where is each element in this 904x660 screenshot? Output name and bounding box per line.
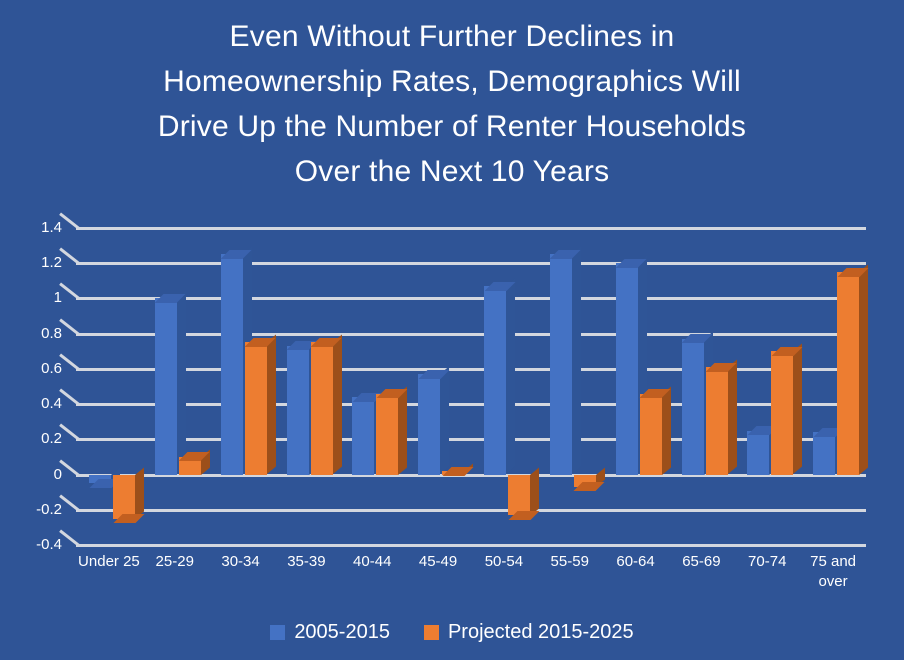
bar-group [274,228,340,545]
y-axis-tick-label: 0.2 [4,431,62,446]
bar-face [245,342,267,474]
bar-face [837,272,859,475]
bar-group [142,228,208,545]
bar[interactable] [508,475,530,516]
x-axis-tick-label: 40-44 [339,552,405,572]
bar[interactable] [747,431,769,475]
bar-face [706,367,728,474]
bar[interactable] [813,432,835,474]
bar-face [484,286,506,474]
bar[interactable] [682,339,704,475]
bar-group [537,228,603,545]
bar[interactable] [771,351,793,474]
y-axis-tick-label: -0.2 [4,502,62,517]
bar-face [113,475,135,519]
bar[interactable] [376,394,398,475]
bar-side [177,291,186,475]
bar[interactable] [418,374,440,474]
y-axis-tick-labels: 1.41.210.80.60.40.20-0.2-0.4 [0,228,62,545]
x-axis-tick-label: 65-69 [669,552,735,572]
bar[interactable] [550,254,572,474]
bar-face [640,394,662,475]
legend-swatch-icon [424,625,439,640]
y-axis-tick-label: 1 [4,290,62,305]
x-axis-tick-label: 30-34 [208,552,274,572]
bar[interactable] [113,475,135,519]
y-axis-tick-label: -0.4 [4,537,62,552]
bar[interactable] [155,298,177,474]
bar-group [339,228,405,545]
bar[interactable] [311,342,333,474]
x-axis-tick-label: Under 25 [76,552,142,572]
bar-side [506,279,515,475]
bar-side [859,264,868,474]
bar[interactable] [484,286,506,474]
bar-face [616,263,638,474]
x-axis-tick-label: 60-64 [603,552,669,572]
bar-face [771,351,793,474]
x-axis-tick-label: 70-74 [734,552,800,572]
legend-item[interactable]: Projected 2015-2025 [424,622,634,642]
bar-face [352,397,374,474]
bar[interactable] [287,346,309,475]
x-axis-tick-label: 25-29 [142,552,208,572]
y-axis-tick-label: 0 [4,467,62,482]
bar-group [76,228,142,545]
bar-group [603,228,669,545]
y-axis-tick-label: 1.2 [4,255,62,270]
bar-group [405,228,471,545]
bar-face [682,339,704,475]
bar-group [208,228,274,545]
bar[interactable] [245,342,267,474]
y-axis-tick-label: 0.4 [4,396,62,411]
bar[interactable] [837,272,859,475]
bar-face [376,394,398,475]
bar-face [221,254,243,474]
y-axis-tick-label: 0.8 [4,326,62,341]
legend-label: 2005-2015 [294,622,390,642]
x-axis-tick-label: 35-39 [274,552,340,572]
bar[interactable] [706,367,728,474]
bar-face [155,298,177,474]
y-axis-tick-label: 0.6 [4,361,62,376]
x-axis-tick-labels: Under 2525-2930-3435-3940-4445-4950-5455… [76,552,866,602]
legend-item[interactable]: 2005-2015 [270,622,390,642]
bar[interactable] [640,394,662,475]
bar-side [440,367,449,475]
chart-container: Even Without Further Declines in Homeown… [0,0,904,660]
bar-group [471,228,537,545]
x-axis-tick-label: 50-54 [471,552,537,572]
x-axis-tick-label: 55-59 [537,552,603,572]
bar-group [734,228,800,545]
bar[interactable] [179,457,201,475]
bar-face [418,374,440,474]
bar-face [311,342,333,474]
bar[interactable] [442,471,464,475]
x-axis-tick-label: 75 and over [800,552,866,592]
bars-layer [76,228,866,545]
bar-group [669,228,735,545]
legend-swatch-icon [270,625,285,640]
bar[interactable] [616,263,638,474]
bar-face [287,346,309,475]
plot-area [76,228,866,545]
bar[interactable] [221,254,243,474]
chart-legend: 2005-2015Projected 2015-2025 [0,615,904,649]
y-axis-tick-label: 1.4 [4,220,62,235]
bar-face [813,432,835,474]
legend-label: Projected 2015-2025 [448,622,634,642]
bar-face [550,254,572,474]
bar[interactable] [574,475,596,487]
x-axis-tick-label: 45-49 [405,552,471,572]
bar-face [747,431,769,475]
bar-side [572,247,581,475]
bar-group [800,228,866,545]
bar-face [508,475,530,516]
bar[interactable] [89,475,111,484]
bar[interactable] [352,397,374,474]
plot-wrapper: 1.41.210.80.60.40.20-0.2-0.4 Under 2525-… [0,0,904,660]
